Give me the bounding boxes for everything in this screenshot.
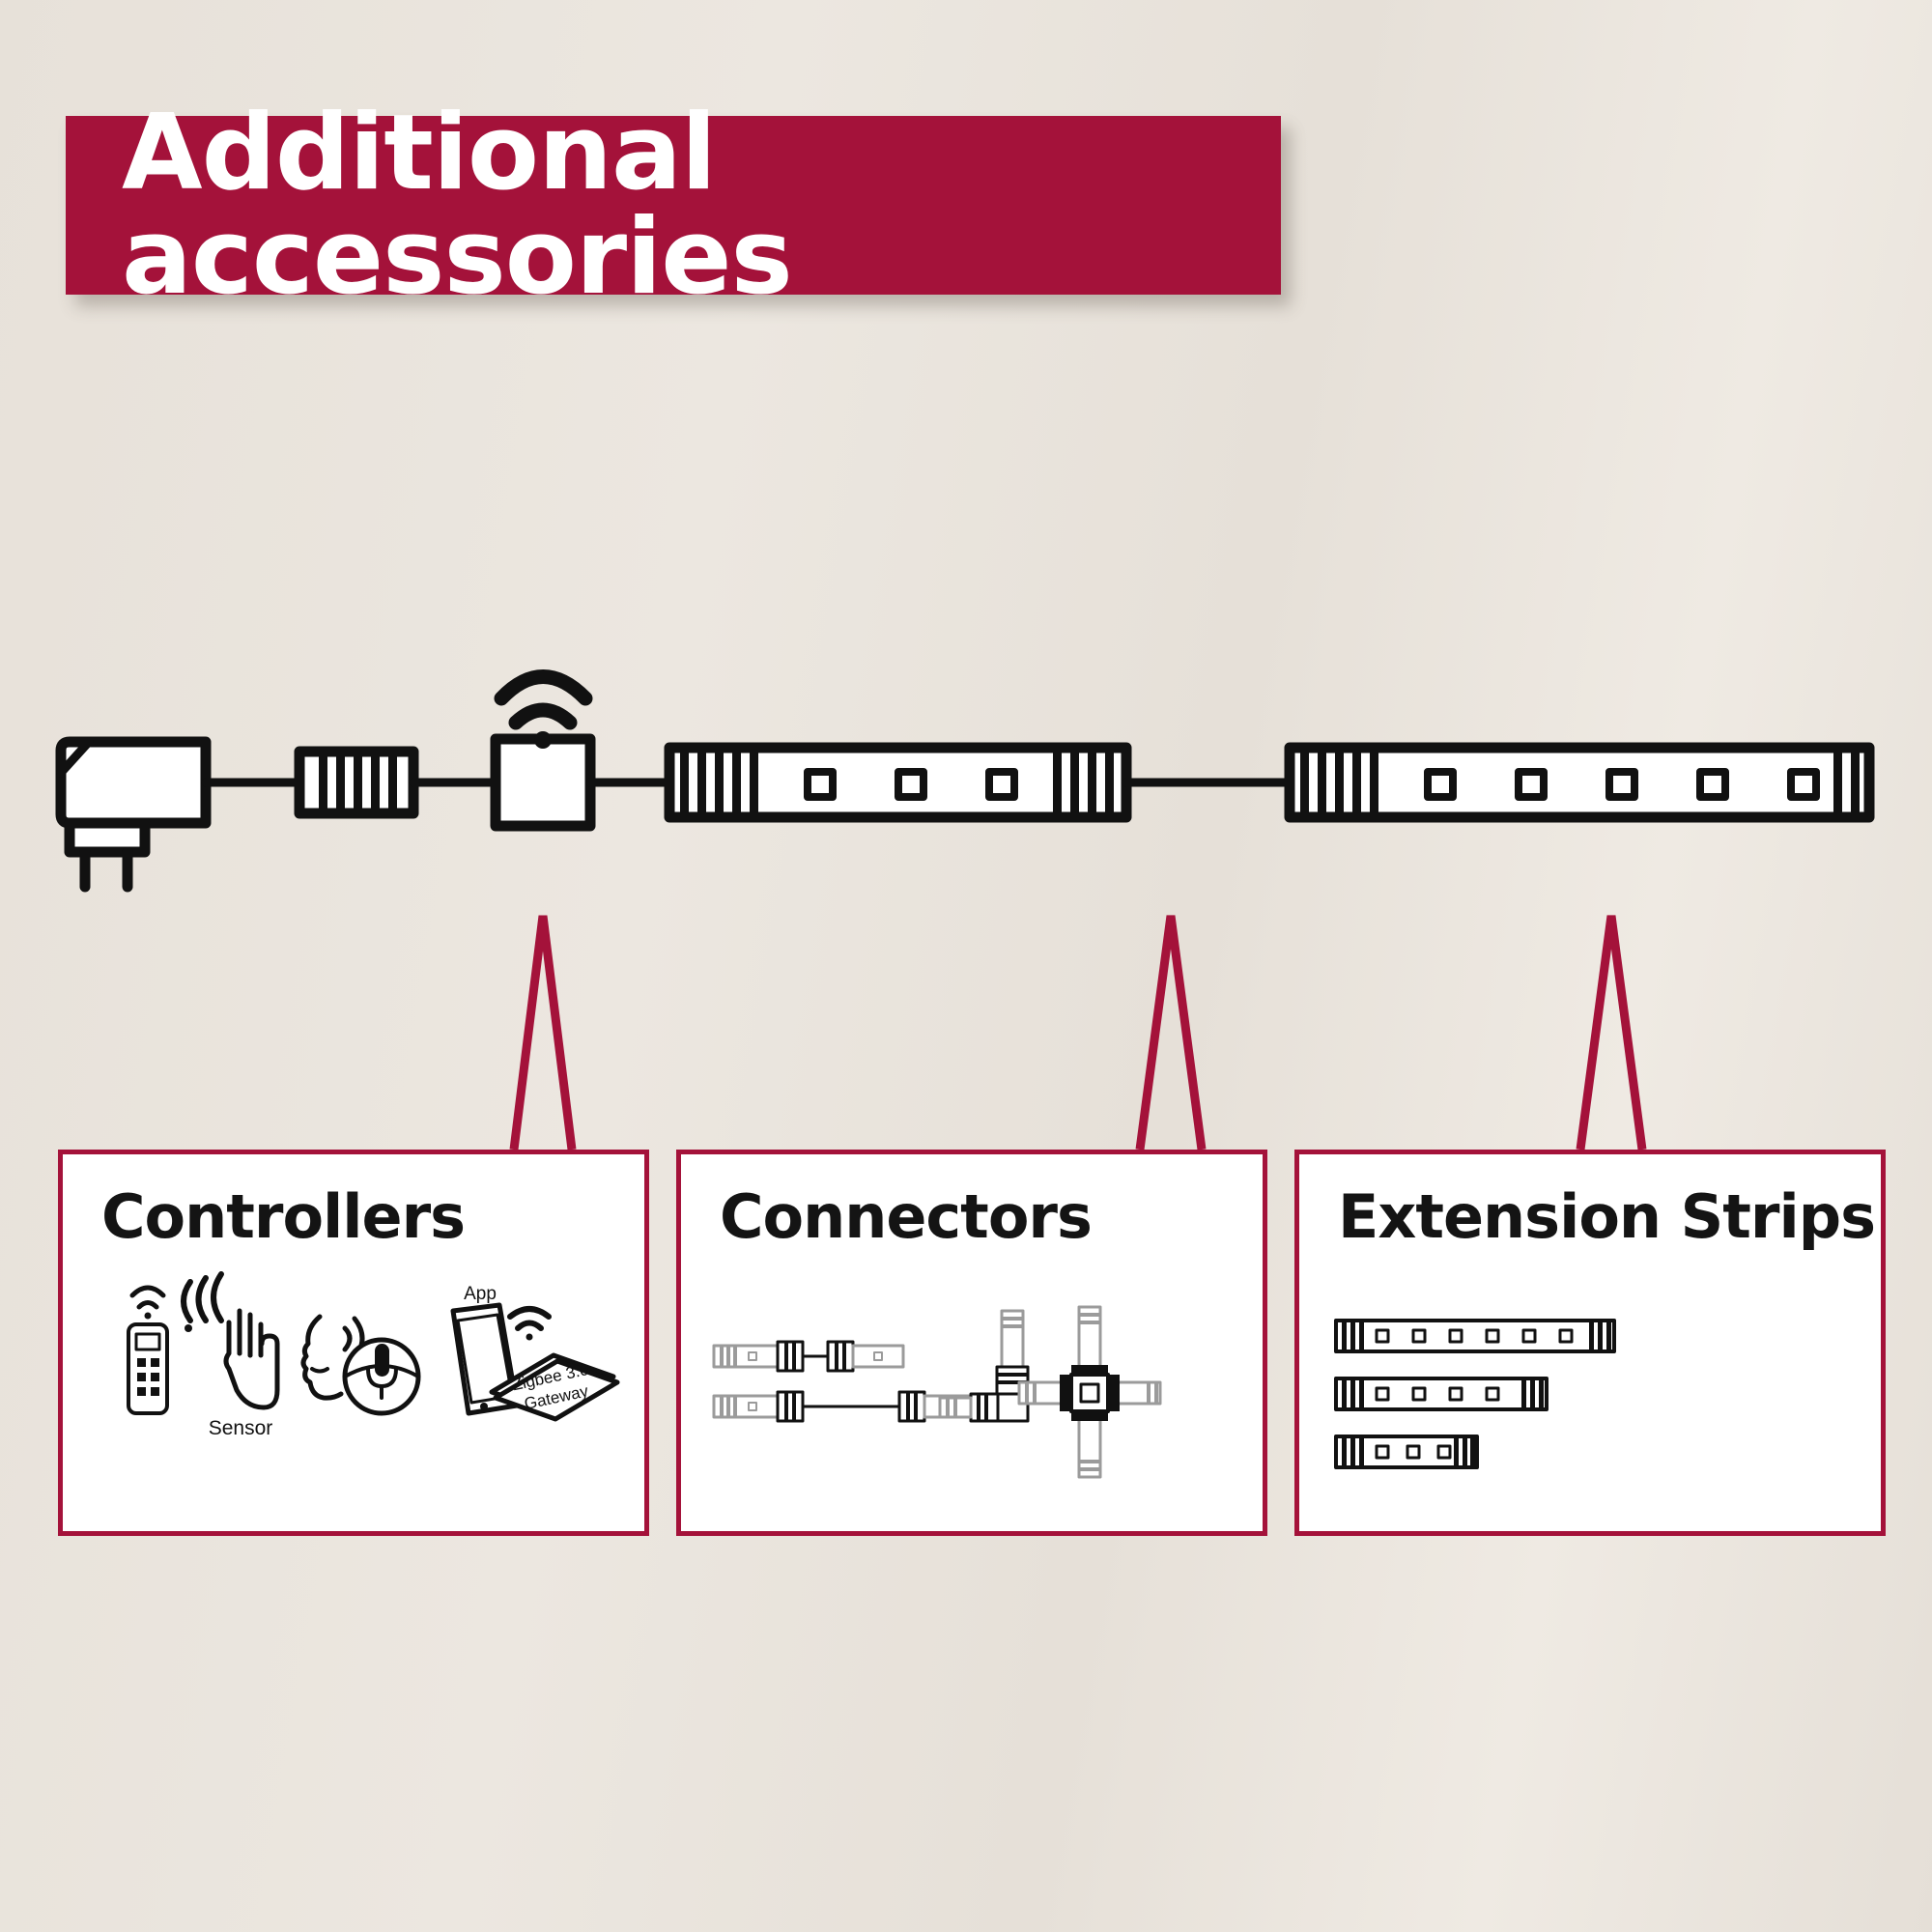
card-extension-strips[interactable]: Extension Strips (1294, 1150, 1886, 1536)
sensor-label: Sensor (209, 1417, 273, 1439)
app-label: App (464, 1284, 497, 1304)
pointer-to-connectors (1140, 916, 1202, 1150)
card-art-connectors (681, 1261, 1263, 1531)
led-strip-segment-1 (669, 748, 1126, 817)
card-controllers[interactable]: Controllers (58, 1150, 649, 1536)
motion-sensor-icon (184, 1274, 277, 1407)
power-supply-plug (61, 742, 206, 887)
strip-cable-connector-icon (714, 1342, 975, 1421)
led-strip-segment-2 (1290, 748, 1869, 817)
cross-connector-icon (1019, 1307, 1160, 1477)
connector-module-1 (299, 752, 413, 813)
extension-strip-long-icon (1336, 1321, 1614, 1351)
corner-connector-icon (940, 1311, 1028, 1421)
card-title-connectors: Connectors (720, 1181, 1092, 1252)
card-art-extension (1299, 1261, 1881, 1531)
system-diagram (0, 0, 1932, 1932)
extension-strip-short-icon (1336, 1436, 1477, 1467)
pointer-to-controllers (514, 916, 572, 1150)
card-connectors[interactable]: Connectors (676, 1150, 1267, 1536)
card-title-controllers: Controllers (101, 1181, 465, 1252)
wireless-controller-module (496, 739, 590, 826)
card-title-extension: Extension Strips (1338, 1181, 1875, 1252)
extension-strip-medium-icon (1336, 1378, 1547, 1409)
pointer-to-extension (1580, 916, 1642, 1150)
system-diagram-svg (0, 0, 1932, 1159)
card-art-controllers: Sensor (63, 1261, 644, 1531)
voice-control-icon (303, 1317, 418, 1413)
remote-control-icon (128, 1288, 167, 1413)
